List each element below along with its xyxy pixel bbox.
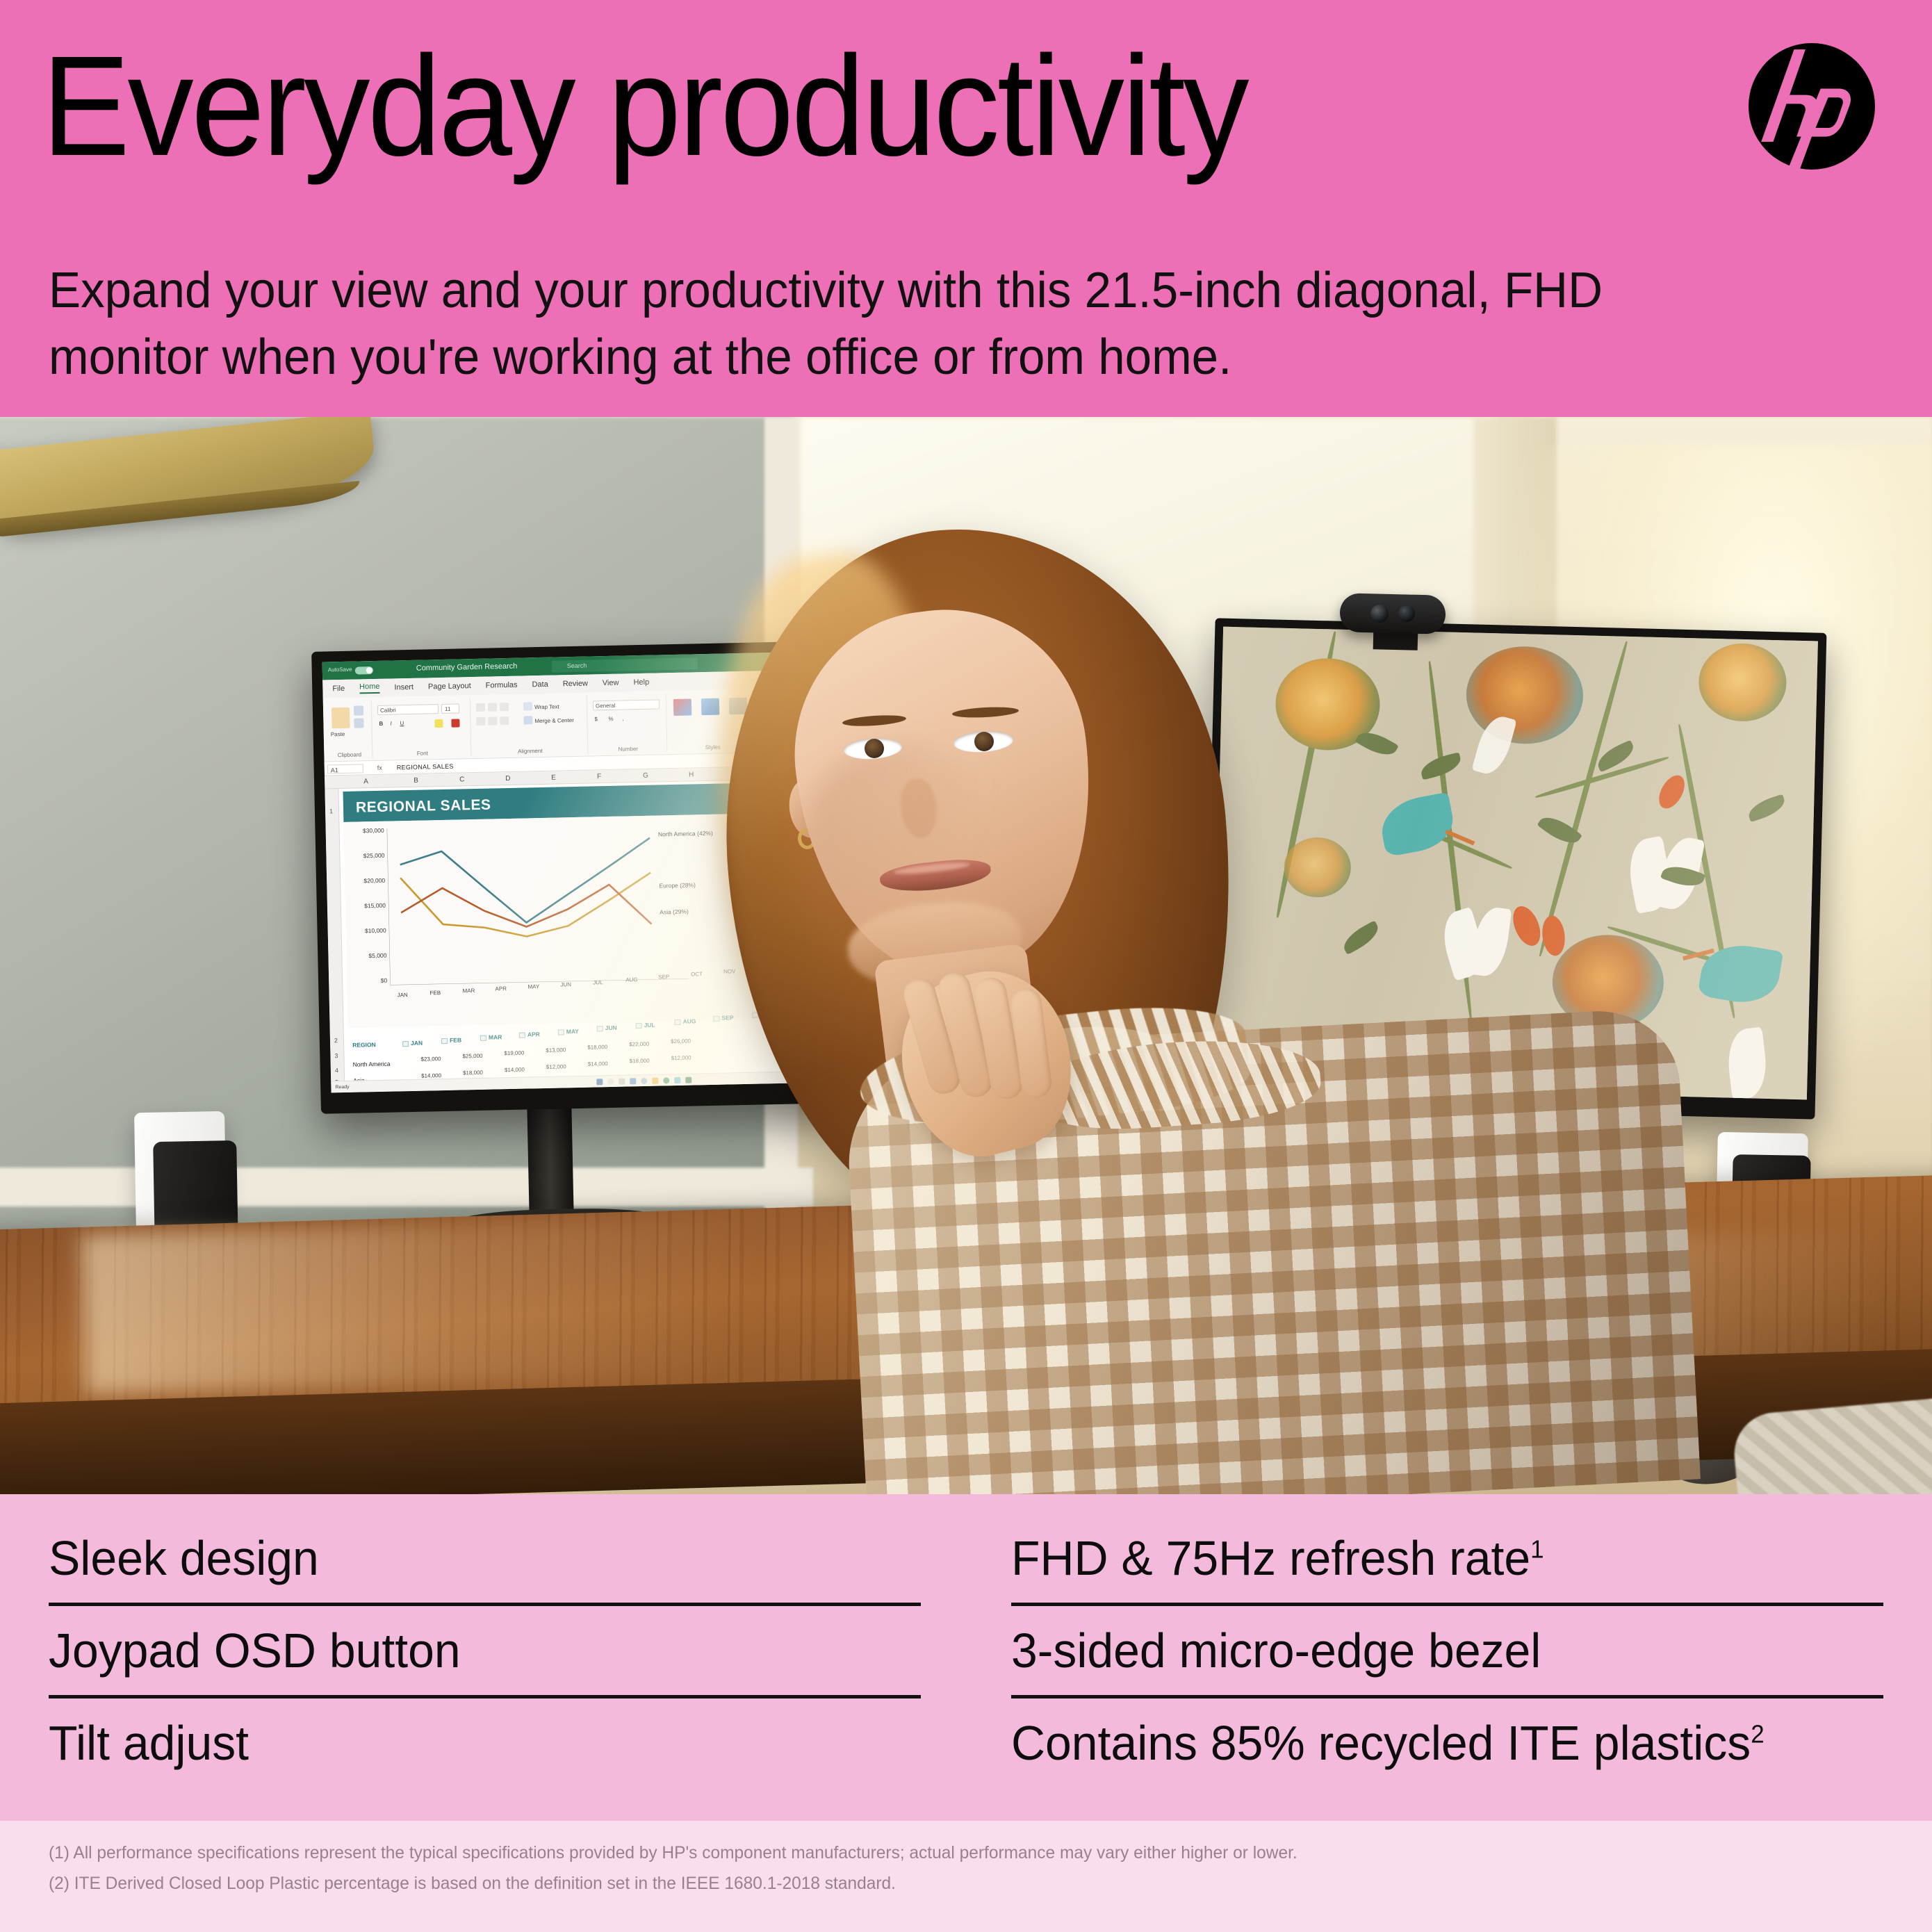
copy-icon[interactable] [354, 718, 363, 728]
feature-item-sleek-design: Sleek design [49, 1514, 921, 1603]
y-tick-30000: $30,000 [344, 827, 384, 835]
table-header-jan: JAN [411, 1040, 423, 1047]
footnote-band: (1) All performance specifications repre… [0, 1821, 1932, 1932]
table-header-jun: JUN [605, 1024, 617, 1031]
na-jul: $26,000 [671, 1038, 691, 1045]
y-tick-20000: $20,000 [345, 877, 385, 885]
font-color-icon[interactable] [451, 719, 459, 727]
taskbar-excel-icon[interactable] [685, 1077, 691, 1083]
excel-tab-file[interactable]: File [332, 685, 345, 693]
infographic-page: Everyday productivity Expand your view a… [0, 0, 1932, 1932]
paste-label: Paste [331, 731, 345, 737]
feature-label: FHD & 75Hz refresh rate1 [1011, 1530, 1544, 1586]
filter-icon-jun[interactable] [597, 1026, 603, 1031]
currency-format-icon[interactable]: $ [594, 716, 598, 722]
align-middle-icon[interactable] [488, 703, 497, 711]
x-tick-sep: SEP [658, 974, 669, 980]
excel-autosave-label[interactable]: AutoSave [328, 666, 352, 673]
excel-tab-help[interactable]: Help [633, 678, 649, 687]
table-row-north-america-label: North America [353, 1061, 391, 1068]
feature-item-recycled-plastics: Contains 85% recycled ITE plastics2 [1011, 1698, 1883, 1787]
excel-col-a[interactable]: A [363, 778, 368, 785]
excel-tab-data[interactable]: Data [532, 680, 548, 689]
wrap-text-icon[interactable] [523, 702, 532, 710]
table-header-mar: MAR [489, 1033, 502, 1040]
excel-tab-insert[interactable]: Insert [394, 683, 414, 692]
feature-item-micro-edge-bezel: 3-sided micro-edge bezel [1011, 1606, 1883, 1695]
merge-center-label: Merge & Center [534, 717, 574, 724]
highlight-color-icon[interactable] [434, 719, 443, 728]
excel-group-alignment: Wrap Text Merge & Center Alignment [472, 696, 589, 756]
excel-row-2[interactable]: 2 [334, 1037, 338, 1044]
excel-col-c[interactable]: C [459, 776, 464, 783]
filter-icon-jan[interactable] [402, 1041, 409, 1047]
footnote-2: (2) ITE Derived Closed Loop Plastic perc… [49, 1871, 896, 1897]
asia-feb: $18,000 [463, 1070, 483, 1076]
feature-label: Contains 85% recycled ITE plastics2 [1011, 1715, 1765, 1771]
excel-group-label-font: Font [374, 749, 470, 758]
x-tick-apr: APR [495, 985, 507, 992]
italic-icon[interactable]: I [390, 720, 391, 726]
window-sill [0, 1168, 813, 1206]
excel-row-3[interactable]: 3 [334, 1052, 338, 1059]
feature-label: Joypad OSD button [49, 1623, 461, 1678]
table-header-aug: AUG [682, 1017, 696, 1024]
asia-jul: $12,000 [671, 1055, 691, 1062]
comma-format-icon[interactable]: , [622, 715, 623, 721]
excel-autosave-toggle[interactable] [355, 666, 373, 675]
font-size-value: 11 [445, 706, 450, 712]
series-north-america [400, 838, 651, 926]
desk-highlight-left [81, 1212, 906, 1395]
excel-tab-view[interactable]: View [603, 679, 619, 687]
y-tick-10000: $10,000 [346, 927, 386, 935]
woman-iris-left [865, 739, 884, 758]
taskbar-icon-1[interactable] [596, 1079, 603, 1085]
taskbar-icon-8[interactable] [674, 1077, 680, 1083]
bold-icon[interactable]: B [379, 721, 383, 727]
excel-tab-formulas[interactable]: Formulas [486, 681, 518, 690]
excel-group-label-clipboard: Clipboard [327, 751, 372, 758]
excel-group-label-alignment: Alignment [473, 747, 587, 755]
number-format-value: General [596, 703, 616, 710]
asia-apr: $12,000 [546, 1063, 566, 1070]
underline-icon[interactable]: U [400, 720, 404, 726]
filter-icon-apr[interactable] [519, 1033, 525, 1038]
header-subtitle: Expand your view and your productivity w… [49, 257, 1683, 391]
excel-col-e[interactable]: E [551, 774, 556, 782]
y-tick-5000: $5,000 [346, 952, 386, 960]
feature-band: Sleek design Joypad OSD button Tilt adju… [0, 1494, 1932, 1821]
filter-icon-sep[interactable] [713, 1016, 719, 1022]
left-monitor-stand-neck [527, 1097, 574, 1223]
excel-status-text: Ready [335, 1085, 349, 1090]
table-header-may: MAY [566, 1028, 579, 1035]
na-mar: $19,000 [504, 1050, 524, 1057]
align-bottom-icon[interactable] [500, 703, 509, 711]
feature-column-right: FHD & 75Hz refresh rate1 3-sided micro-e… [1011, 1514, 1883, 1787]
excel-col-b[interactable]: B [414, 777, 418, 785]
table-header-region: REGION [352, 1041, 376, 1049]
na-may: $18,000 [587, 1044, 607, 1051]
excel-search-placeholder: Search [567, 662, 587, 670]
table-header-feb: FEB [450, 1036, 461, 1043]
taskbar-icon-3[interactable] [619, 1079, 625, 1085]
x-tick-jun: JUN [560, 981, 571, 988]
font-name-value: Calibri [380, 707, 396, 713]
na-feb: $25,000 [462, 1053, 482, 1060]
asia-jun: $18,000 [630, 1058, 650, 1065]
taskbar-icon-6[interactable] [652, 1078, 658, 1084]
conditional-formatting-icon[interactable] [673, 698, 691, 716]
excel-group-clipboard: Paste Clipboard [326, 700, 373, 759]
footnote-marker: 2 [1751, 1720, 1764, 1749]
excel-col-g[interactable]: G [643, 772, 648, 780]
chart-plot-area [387, 822, 689, 985]
excel-col-h[interactable]: H [689, 771, 694, 778]
feature-label: Tilt adjust [49, 1715, 249, 1771]
x-tick-feb: FEB [430, 990, 441, 996]
x-tick-mar: MAR [462, 988, 475, 994]
regional-sales-title: REGIONAL SALES [356, 797, 491, 817]
footnote-marker: 1 [1530, 1535, 1544, 1564]
headline-row: Everyday productivity [42, 19, 1890, 193]
excel-formula-content: REGIONAL SALES [397, 763, 454, 771]
table-header-apr: APR [527, 1031, 540, 1038]
asia-mar: $14,000 [505, 1067, 525, 1074]
woman-iris-right [974, 732, 994, 751]
excel-col-d[interactable]: D [505, 775, 510, 783]
legend-north-america: North America (42%) [658, 830, 713, 838]
table-header-sep: SEP [721, 1014, 733, 1021]
filter-icon-mar[interactable] [480, 1035, 486, 1041]
filter-icon-may[interactable] [558, 1029, 564, 1035]
legend-asia: Asia (29%) [660, 908, 689, 916]
footnote-1: (1) All performance specifications repre… [49, 1840, 1297, 1867]
excel-col-f[interactable]: F [597, 773, 601, 780]
series-europe [400, 873, 652, 940]
table-header-jul: JUL [644, 1022, 655, 1029]
feature-columns: Sleek design Joypad OSD button Tilt adju… [49, 1514, 1883, 1787]
format-as-table-icon[interactable] [701, 698, 719, 716]
feature-item-fhd-refresh-rate: FHD & 75Hz refresh rate1 [1011, 1514, 1883, 1603]
feature-column-left: Sleek design Joypad OSD button Tilt adju… [49, 1514, 921, 1787]
excel-row-1[interactable]: 1 [329, 808, 333, 814]
excel-group-label-number: Number [589, 745, 666, 753]
header-band: Everyday productivity Expand your view a… [0, 0, 1932, 417]
align-left-icon[interactable] [476, 717, 485, 726]
x-tick-may: MAY [527, 983, 539, 990]
x-tick-aug: AUG [625, 976, 638, 983]
excel-tab-page-layout[interactable]: Page Layout [428, 682, 471, 691]
percent-format-icon[interactable]: % [608, 716, 613, 722]
taskbar-icon-4[interactable] [630, 1078, 636, 1084]
excel-name-box-value: A1 [331, 767, 338, 773]
paste-icon[interactable] [331, 707, 350, 729]
align-right-icon[interactable] [500, 717, 509, 725]
excel-tab-home[interactable]: Home [359, 682, 380, 694]
feature-label: Sleek design [49, 1530, 319, 1586]
excel-row-4[interactable]: 4 [335, 1067, 338, 1074]
filter-icon-jul[interactable] [636, 1023, 642, 1029]
excel-fx-icon[interactable]: fx [377, 764, 382, 771]
product-photo: AutoSave Community Garden Research Searc… [0, 417, 1932, 1494]
x-tick-nov: NOV [723, 968, 736, 974]
na-jan: $23,000 [420, 1056, 441, 1063]
x-tick-jan: JAN [398, 992, 408, 998]
y-tick-0: $0 [347, 977, 387, 985]
x-tick-oct: OCT [691, 971, 703, 977]
y-tick-15000: $15,000 [345, 902, 386, 910]
na-apr: $13,000 [546, 1047, 566, 1054]
webcam [1339, 593, 1446, 635]
legend-europe: Europe (28%) [659, 881, 696, 889]
excel-tab-review[interactable]: Review [563, 680, 588, 689]
x-tick-jul: JUL [593, 979, 603, 985]
wrap-text-label: Wrap Text [534, 703, 559, 710]
align-top-icon[interactable] [476, 703, 485, 712]
filter-icon-feb[interactable] [441, 1038, 448, 1044]
cut-icon[interactable] [354, 705, 363, 715]
hp-logo-icon [1749, 43, 1875, 170]
excel-group-number: General $ % , Number [589, 694, 668, 753]
na-jun: $22,000 [629, 1041, 649, 1048]
page-title: Everyday productivity [42, 39, 1247, 174]
merge-center-icon[interactable] [523, 716, 532, 724]
feature-label: 3-sided micro-edge bezel [1011, 1623, 1541, 1678]
filter-icon-aug[interactable] [674, 1020, 680, 1025]
feature-item-joypad-osd-button: Joypad OSD button [49, 1606, 921, 1695]
align-center-icon[interactable] [488, 717, 497, 725]
asia-may: $14,000 [588, 1061, 608, 1067]
y-tick-25000: $25,000 [344, 852, 384, 860]
excel-group-font: Calibri 11 B I U Font [373, 698, 472, 758]
feature-item-tilt-adjust: Tilt adjust [49, 1698, 921, 1787]
